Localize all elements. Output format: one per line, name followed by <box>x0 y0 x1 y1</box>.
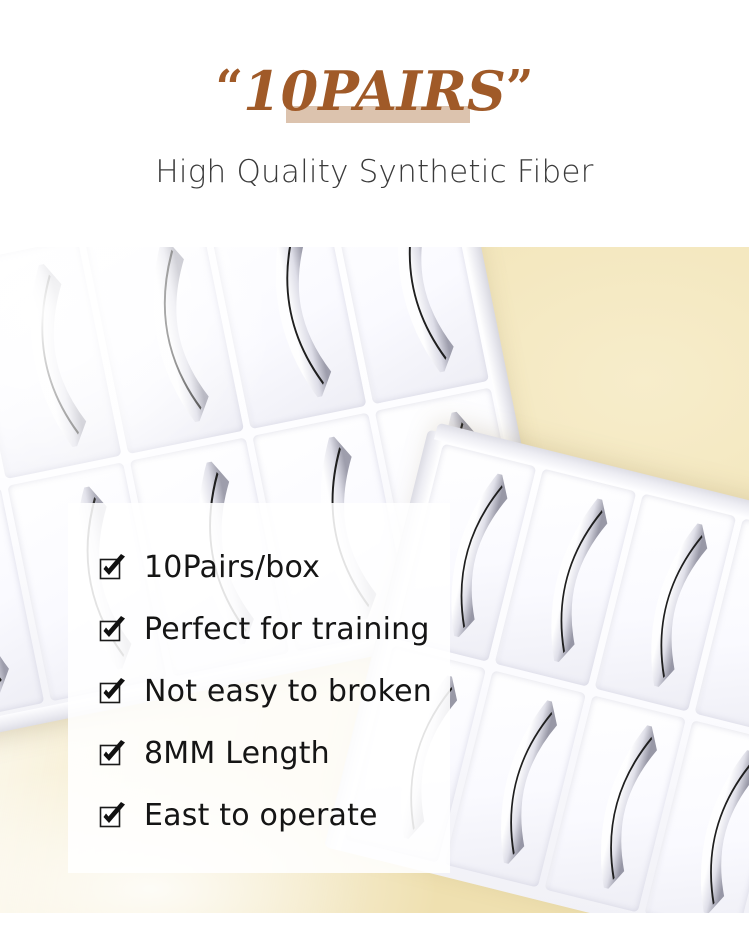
list-item: Perfect for training <box>98 599 538 661</box>
page-title: “10PAIRS” <box>0 48 749 131</box>
lash-strip-icon <box>106 247 226 432</box>
list-item: East to operate <box>98 785 538 847</box>
feature-label: 10Pairs/box <box>144 553 320 583</box>
feature-label: Perfect for training <box>144 615 430 645</box>
lash-strip-icon <box>663 739 749 913</box>
footer-whitespace <box>0 913 749 948</box>
headline-text: 10PAIRS <box>243 59 506 123</box>
lash-strip-icon <box>351 247 471 383</box>
close-quote-glyph: ” <box>506 60 534 116</box>
lash-strip-icon <box>0 259 104 457</box>
headline-wrap: “10PAIRS” <box>0 48 749 128</box>
checked-box-icon <box>98 739 128 769</box>
checked-box-icon <box>98 553 128 583</box>
lash-strip-icon <box>613 513 721 693</box>
checked-box-icon <box>98 801 128 831</box>
feature-list: 10Pairs/box Perfect for training Not eas… <box>68 503 538 873</box>
checked-box-icon <box>98 615 128 645</box>
product-banner: “10PAIRS” High Quality Synthetic Fiber <box>0 0 749 948</box>
list-item: 8MM Length <box>98 723 538 785</box>
lash-strip-icon <box>229 247 349 408</box>
feature-label: Not easy to broken <box>144 677 432 707</box>
banner-header: “10PAIRS” High Quality Synthetic Fiber <box>0 0 749 247</box>
feature-label: East to operate <box>144 801 378 831</box>
checked-box-icon <box>98 677 128 707</box>
list-item: 10Pairs/box <box>98 537 538 599</box>
list-item: Not easy to broken <box>98 661 538 723</box>
page-subtitle: High Quality Synthetic Fiber <box>0 152 749 192</box>
feature-label: 8MM Length <box>144 739 330 769</box>
lash-strip-icon <box>563 714 671 894</box>
open-quote-glyph: “ <box>215 60 243 116</box>
